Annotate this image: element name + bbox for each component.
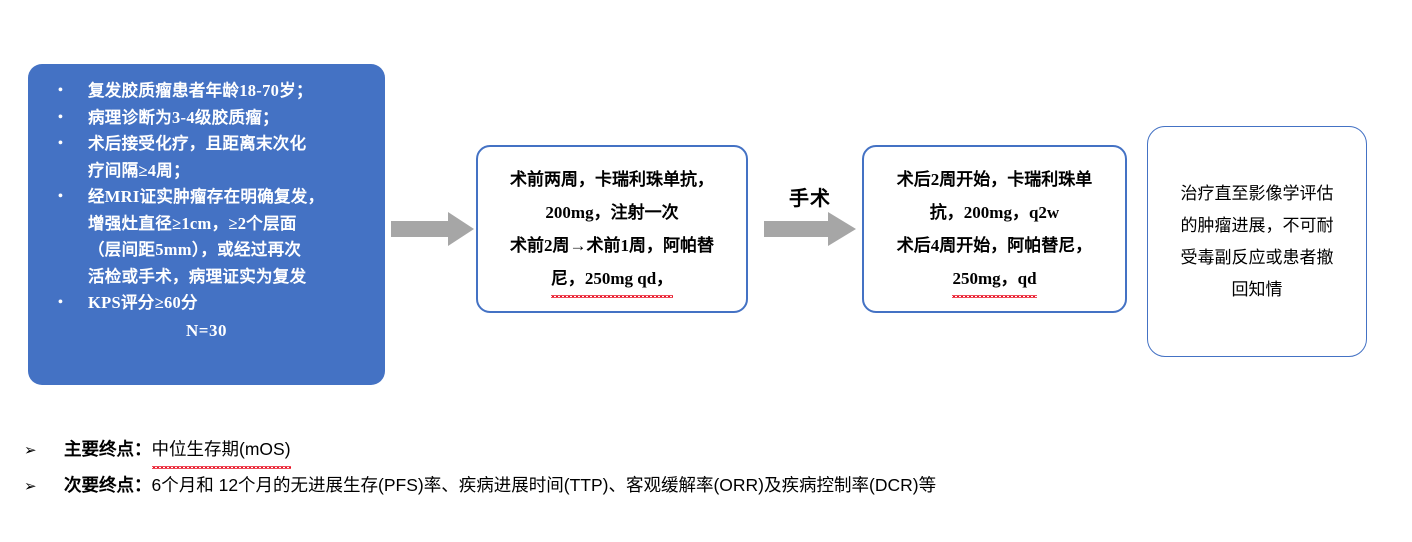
bullet-icon: •: [58, 78, 63, 105]
postop-line-1: 术后2周开始，卡瑞利珠单: [897, 163, 1093, 196]
primary-endpoint-value: 中位生存期(mOS): [152, 432, 291, 466]
arrow-bullet-icon: ➢: [24, 470, 64, 504]
criteria-item: 增强灶直径≥1cm，≥2个层面: [38, 211, 375, 238]
preop-line-3: 术前2周→术前1周，阿帕替: [510, 229, 714, 262]
endpoints-section: ➢ 主要终点： 中位生存期(mOS) ➢ 次要终点： 6个月和 12个月的无进展…: [24, 432, 1394, 504]
followup-line-4: 回知情: [1164, 274, 1350, 306]
followup-line-1: 治疗直至影像学评估: [1164, 178, 1350, 210]
criteria-item-text: （层间距5mm），或经过再次: [88, 240, 301, 259]
preop-line-4-text: 尼，250mg qd，: [551, 262, 673, 295]
criteria-item: •术后接受化疗，且距离末次化: [38, 131, 375, 158]
postop-line-4: 250mg，qd: [952, 262, 1036, 295]
preop-line-2: 200mg，注射一次: [545, 196, 678, 229]
criteria-item-text: 病理诊断为3-4级胶质瘤；: [88, 108, 279, 127]
bullet-icon: •: [58, 290, 63, 317]
sample-size-label: N=30: [38, 321, 375, 341]
criteria-item-text: 增强灶直径≥1cm，≥2个层面: [88, 214, 297, 233]
criteria-item: 活检或手术，病理证实为复发: [38, 264, 375, 291]
primary-endpoint-label: 主要终点：: [64, 432, 152, 466]
treatment-duration-text: 治疗直至影像学评估 的肿瘤进展，不可耐 受毒副反应或患者撤 回知情: [1164, 178, 1350, 306]
preoperative-treatment-box: 术前两周，卡瑞利珠单抗， 200mg，注射一次 术前2周→术前1周，阿帕替 尼，…: [476, 145, 748, 313]
secondary-endpoint-value: 6个月和 12个月的无进展生存(PFS)率、疾病进展时间(TTP)、客观缓解率(…: [152, 468, 937, 502]
followup-line-2: 的肿瘤进展，不可耐: [1164, 210, 1350, 242]
inclusion-criteria-box: •复发胶质瘤患者年龄18-70岁；•病理诊断为3-4级胶质瘤；•术后接受化疗，且…: [28, 64, 385, 385]
treatment-duration-box: 治疗直至影像学评估 的肿瘤进展，不可耐 受毒副反应或患者撤 回知情: [1147, 126, 1367, 357]
secondary-endpoint-label: 次要终点：: [64, 468, 152, 502]
criteria-item-text: 术后接受化疗，且距离末次化: [88, 134, 306, 153]
criteria-item-text: 疗间隔≥4周；: [88, 161, 190, 180]
criteria-item-text: 经MRI证实肿瘤存在明确复发，: [88, 187, 324, 206]
criteria-item: •经MRI证实肿瘤存在明确复发，: [38, 184, 375, 211]
preop-line-4: 尼，250mg qd，: [551, 262, 673, 295]
bullet-icon: •: [58, 184, 63, 211]
surgery-step-label: 手术: [770, 182, 850, 211]
criteria-item: （层间距5mm），或经过再次: [38, 237, 375, 264]
primary-endpoint-value-text: 中位生存期(mOS): [152, 432, 291, 466]
criteria-item-text: KPS评分≥60分: [88, 293, 198, 312]
arrow-bullet-icon: ➢: [24, 434, 64, 468]
postoperative-treatment-box: 术后2周开始，卡瑞利珠单 抗，200mg，q2w 术后4周开始，阿帕替尼， 25…: [862, 145, 1127, 313]
bullet-icon: •: [58, 105, 63, 132]
followup-line-3: 受毒副反应或患者撤: [1164, 242, 1350, 274]
bullet-icon: •: [58, 131, 63, 158]
secondary-endpoint-row: ➢ 次要终点： 6个月和 12个月的无进展生存(PFS)率、疾病进展时间(TTP…: [24, 468, 1394, 504]
criteria-item: •病理诊断为3-4级胶质瘤；: [38, 105, 375, 132]
preop-line-1: 术前两周，卡瑞利珠单抗，: [510, 163, 714, 196]
criteria-item: •KPS评分≥60分: [38, 290, 375, 317]
primary-endpoint-row: ➢ 主要终点： 中位生存期(mOS): [24, 432, 1394, 468]
criteria-item-text: 活检或手术，病理证实为复发: [88, 267, 306, 286]
flow-arrow-to-postop: [764, 212, 856, 246]
criteria-item-text: 复发胶质瘤患者年龄18-70岁；: [88, 81, 313, 100]
criteria-item: 疗间隔≥4周；: [38, 158, 375, 185]
postop-line-4-text: 250mg，qd: [952, 262, 1036, 295]
flow-arrow-to-preop: [391, 212, 474, 246]
inclusion-criteria-list: •复发胶质瘤患者年龄18-70岁；•病理诊断为3-4级胶质瘤；•术后接受化疗，且…: [38, 78, 375, 317]
postop-line-2: 抗，200mg，q2w: [930, 196, 1059, 229]
postop-line-3: 术后4周开始，阿帕替尼，: [897, 229, 1093, 262]
criteria-item: •复发胶质瘤患者年龄18-70岁；: [38, 78, 375, 105]
